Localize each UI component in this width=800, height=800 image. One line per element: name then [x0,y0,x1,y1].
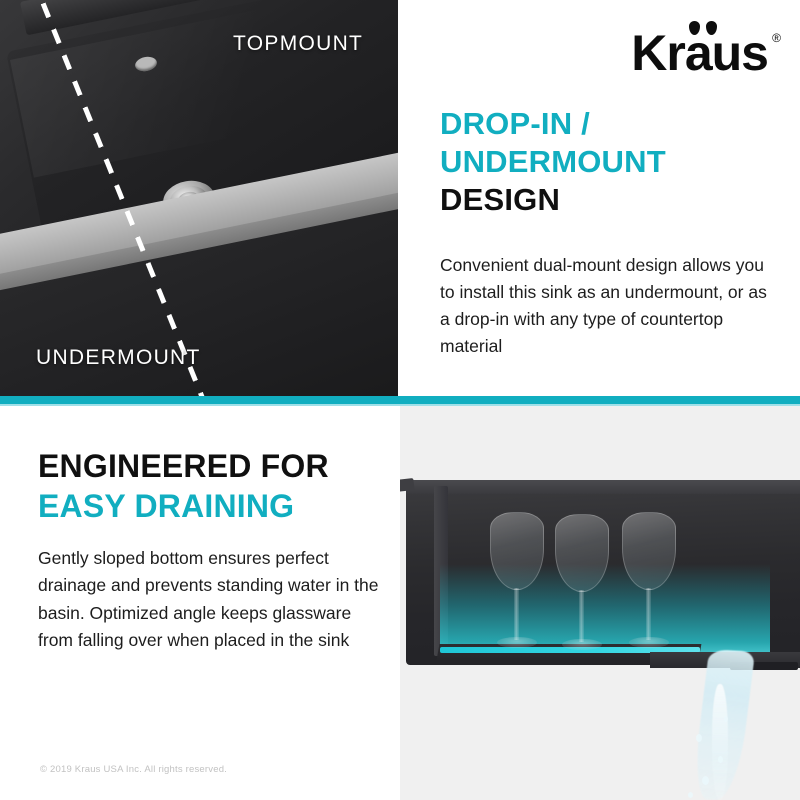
easy-draining-body-text: Gently sloped bottom ensures perfect dra… [38,545,386,654]
heading2-line-2: EASY DRAINING [38,486,388,526]
pouring-water-highlight [712,684,728,800]
glass-stem [514,588,519,640]
water-droplet [696,734,702,742]
registered-trademark-symbol: ® [772,32,781,44]
feature-panel-page: TOPMOUNT UNDERMOUNT Kraus ® DROP-IN / UN… [0,0,800,800]
sink-photo: TOPMOUNT UNDERMOUNT [0,0,400,396]
wine-glass [490,512,544,654]
heading-line-1: DROP-IN / [440,105,770,143]
teal-horizontal-divider [0,396,800,404]
water-droplet-umlaut-icon [689,21,719,35]
glass-stem [579,590,584,642]
drop-in-heading: DROP-IN / UNDERMOUNT DESIGN [440,105,770,218]
topmount-undermount-photo-panel: TOPMOUNT UNDERMOUNT [0,0,400,396]
glass-stem [646,588,651,640]
vertical-divider [398,0,402,396]
sink-cutaway-rim [406,480,800,494]
water-droplet [718,756,723,763]
glass-foot [629,637,669,648]
heading-line-3: DESIGN [440,181,770,219]
sloped-basin-photo-panel [400,404,800,800]
heading2-line-1: ENGINEERED FOR [38,446,388,486]
glass-bowl [490,512,544,590]
drop-in-body-text: Convenient dual-mount design allows you … [440,252,770,361]
water-droplet [724,716,728,722]
glass-foot [562,639,602,650]
copyright-notice: © 2019 Kraus USA Inc. All rights reserve… [40,764,227,775]
easy-draining-heading: ENGINEERED FOR EASY DRAINING [38,446,388,527]
topmount-label: TOPMOUNT [233,32,363,56]
heading-line-2: UNDERMOUNT [440,143,770,181]
teal-divider-highlight [0,404,800,406]
wine-glass [555,514,609,656]
kraus-logo: Kraus ® [631,28,768,78]
glass-bowl [622,512,676,590]
drainage-photo [400,404,800,800]
water-droplet [688,792,693,798]
water-droplet [702,776,709,785]
glass-foot [497,637,537,648]
glass-bowl [555,514,609,592]
undermount-label: UNDERMOUNT [36,346,201,370]
kraus-logo-wordmark: Kraus ® [631,28,768,78]
wine-glass [622,512,676,654]
